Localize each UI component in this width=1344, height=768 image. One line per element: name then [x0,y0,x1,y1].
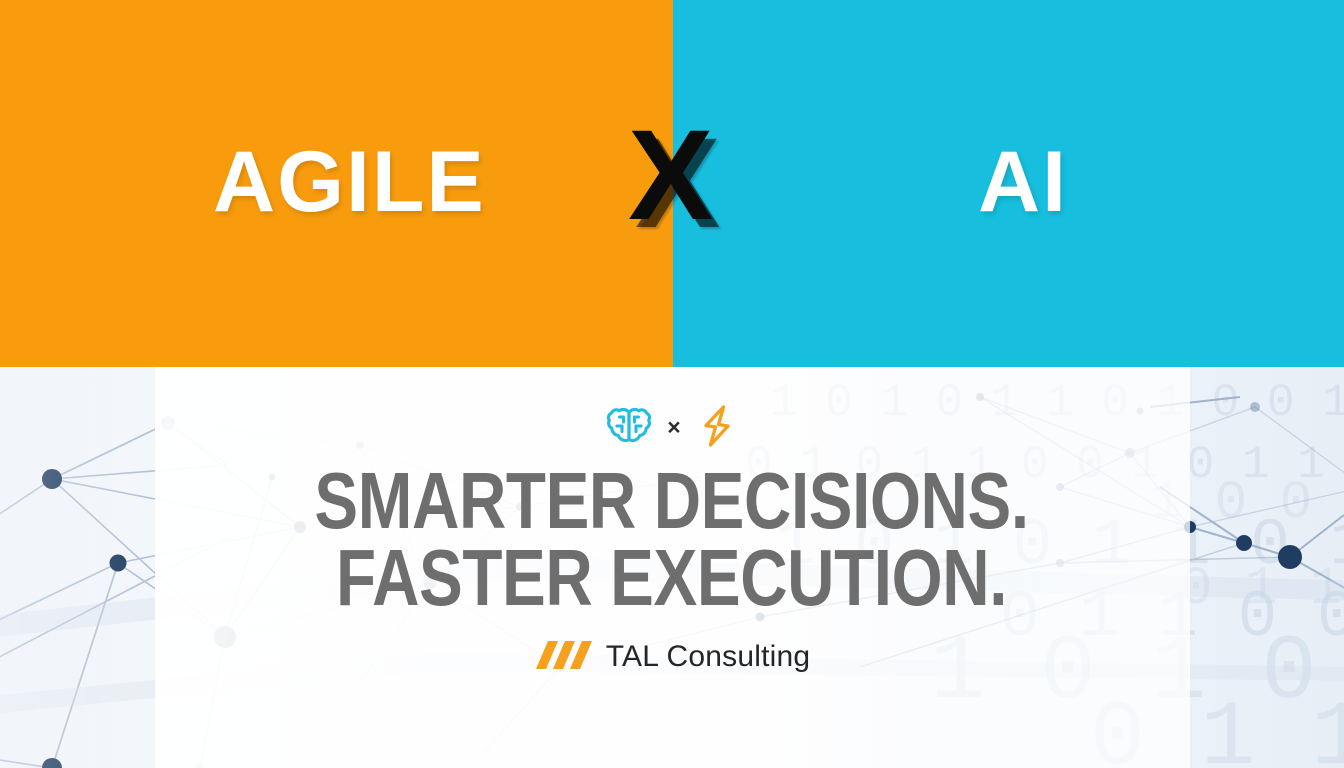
tal-logo-icon [534,639,592,676]
brand-lockup: TAL Consulting [534,639,811,676]
top-color-band: AGILE AI X [0,0,1344,367]
lower-panel: 1 0 1 0 1 1 0 1 0 0 1 0 1 1 0 1 0 1 0 1 … [0,367,1344,768]
headline-line-2: FASTER EXECUTION. [315,540,1029,617]
headline: SMARTER DECISIONS. FASTER EXECUTION. [315,463,1029,617]
promo-banner: AGILE AI X 1 0 1 0 1 1 0 1 [0,0,1344,768]
multiply-icon: × [667,416,680,439]
ai-panel: AI [673,0,1344,367]
brain-icon [605,405,653,447]
ai-label: AI [978,139,1068,225]
cross-symbol: X [628,112,713,240]
brand-name: TAL Consulting [606,642,811,672]
lower-content: × SMARTER DECISIONS. FASTER EXECUTION. [0,367,1344,768]
icon-row: × [605,403,738,449]
headline-line-1: SMARTER DECISIONS. [315,463,1029,540]
agile-label: AGILE [213,139,486,225]
agile-panel: AGILE [0,0,673,367]
lightning-bolt-icon [695,403,739,449]
